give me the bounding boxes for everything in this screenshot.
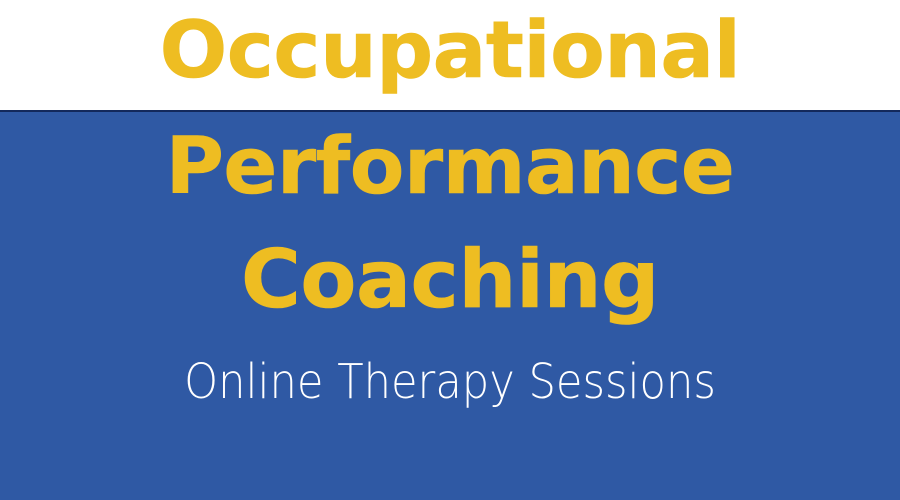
headline-line-1: Occupational: [0, 12, 900, 90]
headline-line-2: Performance: [0, 128, 900, 206]
title-card-banner: Occupational Performance Coaching Online…: [0, 0, 900, 500]
subtitle-text: Online Therapy Sessions: [45, 358, 855, 406]
headline-line-3: Coaching: [0, 240, 900, 320]
